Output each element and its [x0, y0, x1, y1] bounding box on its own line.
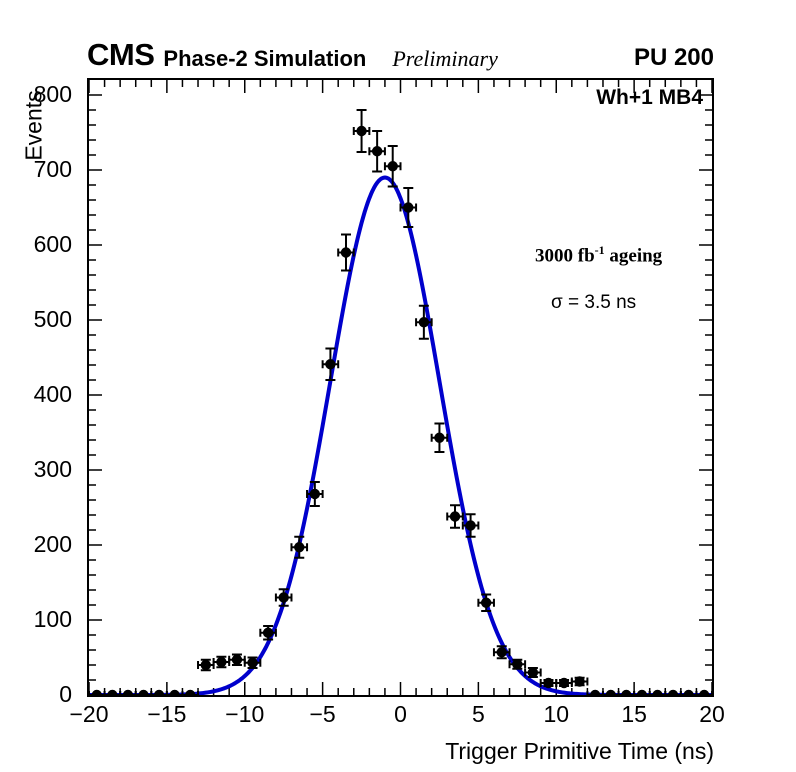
- data-point: [619, 690, 635, 695]
- data-point: [167, 690, 183, 695]
- y-tick-label: 400: [0, 383, 72, 406]
- simulation-subtitle: Phase-2 Simulation: [163, 47, 366, 70]
- data-point: [151, 690, 167, 695]
- lumi-exponent: -1: [595, 243, 605, 257]
- x-tick-label: 5: [443, 703, 513, 726]
- data-point: [120, 690, 136, 695]
- data-point: [354, 110, 370, 152]
- y-tick-label: 100: [0, 608, 72, 631]
- x-tick-label: −10: [210, 703, 280, 726]
- plot-frame: Wh+1 MB4 3000 fb-1 ageing σ = 3.5 ns: [87, 78, 714, 697]
- data-point: [478, 595, 494, 612]
- lumi-value: 3000 fb: [535, 245, 595, 266]
- sigma-label: σ = 3.5 ns: [551, 292, 636, 314]
- y-tick-label: 600: [0, 233, 72, 256]
- y-tick-label: 700: [0, 158, 72, 181]
- data-point: [696, 690, 712, 695]
- data-point: [214, 657, 230, 668]
- x-tick-label: 10: [521, 703, 591, 726]
- data-point: [665, 690, 681, 695]
- lumi-suffix: ageing: [605, 245, 663, 266]
- chart-graphics: [89, 80, 712, 695]
- data-point: [89, 690, 105, 695]
- plot-canvas: CMS Phase-2 Simulation Preliminary PU 20…: [0, 0, 796, 772]
- data-point: [603, 690, 619, 695]
- plot-header: CMS Phase-2 Simulation Preliminary PU 20…: [87, 38, 714, 70]
- data-point: [401, 188, 417, 227]
- data-point: [634, 690, 650, 695]
- x-tick-label: −5: [288, 703, 358, 726]
- y-tick-label: 300: [0, 458, 72, 481]
- preliminary-tag: Preliminary: [392, 47, 498, 70]
- x-tick-label: 15: [599, 703, 669, 726]
- x-axis-title: Trigger Primitive Time (ns): [0, 738, 714, 765]
- data-point: [291, 537, 307, 558]
- x-tick-label: 0: [366, 703, 436, 726]
- x-tick-label: 20: [677, 703, 747, 726]
- x-tick-label: −15: [132, 703, 202, 726]
- data-point: [198, 660, 214, 671]
- x-tick-label: −20: [54, 703, 124, 726]
- data-point: [650, 690, 666, 695]
- data-point: [276, 589, 292, 606]
- y-tick-label: 800: [0, 83, 72, 106]
- data-point: [385, 146, 401, 187]
- data-point: [572, 676, 588, 686]
- data-point: [229, 655, 245, 666]
- axis-ticks: [89, 80, 712, 695]
- data-point: [432, 424, 448, 453]
- data-point: [587, 690, 603, 695]
- data-point: [447, 505, 463, 528]
- luminosity-ageing-label: 3000 fb-1 ageing: [535, 243, 662, 267]
- data-point: [681, 690, 697, 695]
- data-point: [369, 131, 385, 172]
- data-point: [136, 690, 152, 695]
- data-point: [556, 678, 572, 688]
- y-tick-label: 500: [0, 308, 72, 331]
- y-tick-label: 200: [0, 533, 72, 556]
- sample-label: Wh+1 MB4: [596, 86, 703, 110]
- cms-logo: CMS: [87, 39, 154, 70]
- data-point: [105, 690, 121, 695]
- pileup-label: PU 200: [634, 45, 714, 70]
